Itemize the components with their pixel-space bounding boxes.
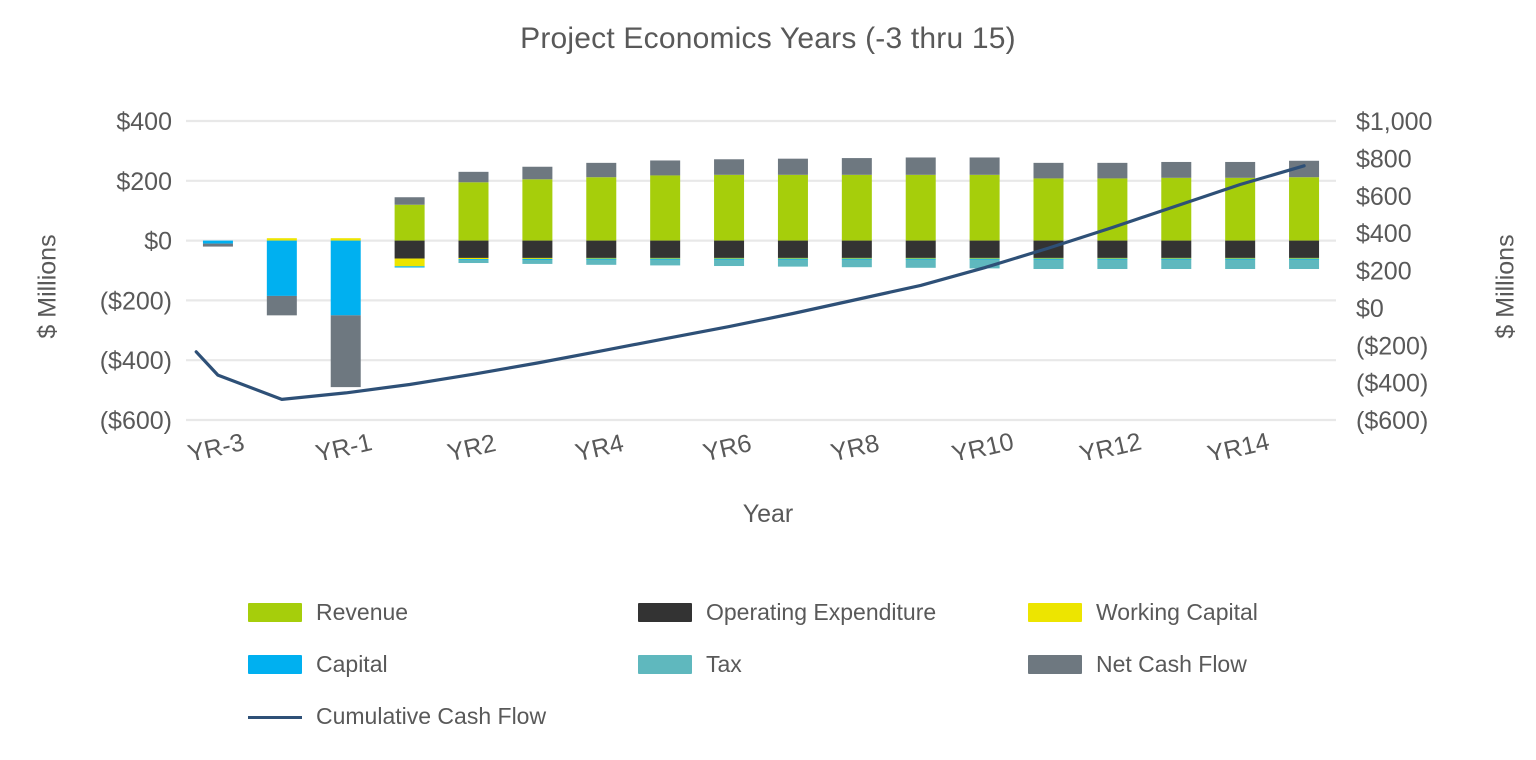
bar-segment-net-cash-flow [522,167,552,180]
y-axis-right-tick-label: ($200) [1356,332,1428,360]
bar-group[interactable] [714,159,744,266]
x-axis-ticks: YR-3YR-1YR2YR4YR6YR8YR10YR12YR14 [185,428,1272,460]
bar-group[interactable] [586,163,616,265]
bar-segment-tax [842,259,872,267]
bar-segment-capital [203,241,233,244]
y-axis-left-title: $ Millions [34,177,63,397]
y-axis-left-tick-label: ($400) [100,347,172,375]
legend-capital-swatch [248,655,302,674]
y-axis-left-tick-label: $200 [116,168,172,196]
bar-segment-revenue [522,179,552,240]
bar-group[interactable] [459,172,489,263]
bar-segment-revenue [1289,177,1319,240]
bar-segment-tax [906,259,936,267]
bar-segment-tax [650,259,680,265]
bar-group[interactable] [842,158,872,267]
bar-segment-tax [459,260,489,263]
bar-group[interactable] [1034,163,1064,269]
bar-segment-tax [1289,259,1319,269]
legend-cumulative-cash-flow-swatch [248,707,302,726]
bar-segment-net-cash-flow [650,160,680,175]
bar-segment-net-cash-flow [1225,162,1255,178]
chart-page: Project Economics Years (-3 thru 15) $40… [0,0,1536,760]
bar-group[interactable] [1289,161,1319,269]
x-axis-tick-label: YR2 [445,429,499,460]
y-axis-right-tick-label: $0 [1356,295,1384,323]
bar-segment-capital [267,241,297,296]
y-axis-left-tick-label: $0 [144,228,172,256]
x-axis-tick-label: YR14 [1205,428,1272,460]
bar-segment-revenue [714,175,744,241]
bar-segment-net-cash-flow [1034,163,1064,179]
x-axis-tick-label: YR4 [573,429,627,460]
legend-cumulative-cash-flow-label: Cumulative Cash Flow [316,703,546,730]
legend-working-capital[interactable]: Working Capital [1028,599,1308,626]
bar-segment-operating-expenditure [970,241,1000,258]
bar-segment-net-cash-flow [970,157,1000,174]
bar-group[interactable] [650,160,680,265]
legend-net-cash-flow[interactable]: Net Cash Flow [1028,651,1308,678]
bar-segment-net-cash-flow [331,315,361,387]
y-axis-right-tick-label: $400 [1356,220,1412,248]
bar-segment-net-cash-flow [842,158,872,175]
bar-group[interactable] [331,238,361,387]
x-axis-tick-label: YR12 [1077,428,1144,460]
bar-segment-tax [522,260,552,264]
bar-group[interactable] [778,159,808,267]
bar-group[interactable] [970,157,1000,268]
bar-segment-operating-expenditure [586,241,616,258]
y-axis-right-title: $ Millions [1492,177,1521,397]
bar-group[interactable] [1225,162,1255,269]
legend-tax[interactable]: Tax [638,651,1028,678]
legend-row: CapitalTaxNet Cash Flow [248,638,1308,690]
bar-segment-tax [714,259,744,266]
plot-area: $400$200$0($200)($400)($600)$1,000$800$6… [0,100,1536,440]
bar-segment-operating-expenditure [650,241,680,258]
legend-cumulative-cash-flow[interactable]: Cumulative Cash Flow [248,703,638,730]
legend-row: RevenueOperating ExpenditureWorking Capi… [248,586,1308,638]
bar-segment-operating-expenditure [842,241,872,258]
legend-capital[interactable]: Capital [248,651,638,678]
bars [203,157,1319,387]
bar-segment-net-cash-flow [203,244,233,247]
bar-segment-working-capital [267,238,297,240]
bar-segment-operating-expenditure [522,241,552,258]
chart-legend: RevenueOperating ExpenditureWorking Capi… [248,586,1308,742]
bar-segment-revenue [778,175,808,241]
legend-tax-swatch [638,655,692,674]
y-axis-right-tick-label: $800 [1356,145,1412,173]
bar-segment-revenue [970,175,1000,241]
bar-segment-capital [395,266,425,267]
bar-segment-tax [586,259,616,264]
bar-segment-capital [331,241,361,316]
legend-revenue-label: Revenue [316,599,408,626]
y-axis-right-tick-label: $200 [1356,258,1412,286]
bar-segment-working-capital [395,259,425,267]
bar-segment-net-cash-flow [1161,162,1191,178]
y-axis-right-tick-label: $600 [1356,183,1412,211]
x-axis-tick-label: YR8 [828,429,882,460]
bar-group[interactable] [267,238,297,315]
x-axis-tick-label: YR-3 [185,428,247,460]
chart-svg: $400$200$0($200)($400)($600)$1,000$800$6… [0,100,1536,460]
legend-revenue-swatch [248,603,302,622]
y-axis-right-tick-label: $1,000 [1356,108,1432,136]
y-axis-right-ticks: $1,000$800$600$400$200$0($200)($400)($60… [1356,108,1432,435]
bar-segment-tax [1097,259,1127,269]
legend-row: Cumulative Cash Flow [248,690,1308,742]
bar-group[interactable] [203,241,233,247]
bar-segment-revenue [586,177,616,240]
bar-group[interactable] [906,157,936,267]
x-axis-tick-label: YR6 [700,429,754,460]
y-axis-left-ticks: $400$200$0($200)($400)($600) [100,108,172,435]
bar-segment-tax [1034,259,1064,269]
legend-operating-expenditure-label: Operating Expenditure [706,599,936,626]
bar-segment-operating-expenditure [1225,241,1255,258]
bar-segment-net-cash-flow [714,159,744,175]
bar-segment-net-cash-flow [395,197,425,204]
bar-segment-revenue [650,175,680,240]
x-axis-title: Year [0,500,1536,529]
y-axis-left-tick-label: $400 [116,108,172,136]
bar-group[interactable] [395,197,425,267]
bar-segment-operating-expenditure [778,241,808,258]
bar-segment-operating-expenditure [395,241,425,259]
bar-segment-revenue [459,182,489,240]
bar-segment-operating-expenditure [1161,241,1191,258]
legend-revenue[interactable]: Revenue [248,599,638,626]
bar-segment-tax [778,259,808,266]
legend-working-capital-label: Working Capital [1096,599,1258,626]
bar-group[interactable] [522,167,552,264]
bar-segment-net-cash-flow [459,172,489,182]
bar-segment-revenue [842,175,872,241]
x-axis-tick-label: YR10 [949,428,1016,460]
legend-capital-label: Capital [316,651,388,678]
bar-segment-revenue [1034,178,1064,240]
cumulative-cash-flow-line [196,166,1304,400]
y-axis-left-tick-label: ($600) [100,407,172,435]
legend-net-cash-flow-label: Net Cash Flow [1096,651,1247,678]
page-title: Project Economics Years (-3 thru 15) [0,22,1536,56]
bar-group[interactable] [1161,162,1191,269]
bar-segment-working-capital [331,238,361,240]
bar-segment-net-cash-flow [586,163,616,177]
y-axis-right-tick-label: ($400) [1356,370,1428,398]
bar-segment-operating-expenditure [714,241,744,258]
bar-segment-operating-expenditure [1289,241,1319,258]
x-axis-tick-label: YR-1 [313,428,375,460]
legend-operating-expenditure[interactable]: Operating Expenditure [638,599,1028,626]
legend-tax-label: Tax [706,651,742,678]
y-axis-right-tick-label: ($600) [1356,407,1428,435]
bar-segment-operating-expenditure [1097,241,1127,258]
legend-operating-expenditure-swatch [638,603,692,622]
bar-segment-revenue [395,205,425,241]
bar-segment-operating-expenditure [459,241,489,258]
y-axis-left-tick-label: ($200) [100,287,172,315]
bar-group[interactable] [1097,163,1127,269]
bar-segment-net-cash-flow [1097,163,1127,179]
bar-segment-revenue [906,175,936,241]
bar-segment-tax [1225,259,1255,269]
bar-segment-working-capital [459,258,489,259]
bar-segment-tax [1161,259,1191,269]
bar-segment-net-cash-flow [778,159,808,175]
bar-segment-net-cash-flow [906,157,936,174]
bar-segment-net-cash-flow [267,296,297,315]
legend-net-cash-flow-swatch [1028,655,1082,674]
legend-working-capital-swatch [1028,603,1082,622]
bar-segment-operating-expenditure [906,241,936,258]
